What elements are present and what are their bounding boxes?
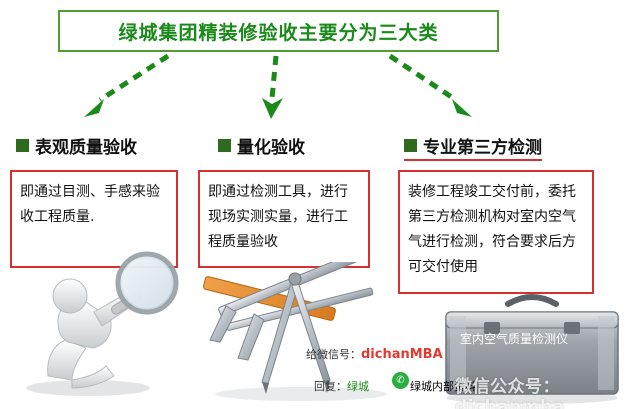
column-body-3: 装修工程竣工交付前，委托第三方检测机构对室内空气气进行检测，符合要求后方可交付使… — [398, 170, 594, 294]
arrow-line-left — [100, 56, 168, 100]
column-heading-label-2: 量化验收 — [237, 133, 305, 158]
title-box: 绿城集团精装修验收主要分为三大类 — [58, 10, 499, 52]
column-heading-1: 表观质量验收 — [16, 132, 137, 158]
bullet-square-icon — [404, 139, 417, 152]
arrow-head-right — [452, 99, 472, 117]
promo-line-2: 回复：绿城 — [314, 378, 369, 394]
arrow-line-right — [390, 56, 456, 100]
page-title: 绿城集团精装修验收主要分为三大类 — [118, 18, 438, 45]
column-heading-label-1: 表观质量验收 — [35, 133, 137, 158]
arrow-line-middle — [272, 56, 276, 98]
caliper-measuring-tools — [196, 262, 406, 404]
bullet-square-icon — [218, 139, 231, 152]
promo-line2-keyword: 绿城 — [347, 380, 369, 393]
case-label: 室内空气质量检测仪 — [460, 330, 568, 347]
promo-line2-prefix: 回复： — [314, 380, 347, 393]
promo-line-1: 给微信号：dichanMBA — [306, 346, 443, 362]
magnifier-man-figure — [14, 248, 194, 398]
wechat-icon: ✆ — [392, 372, 409, 389]
promo-line1-prefix: 给微信号： — [306, 348, 361, 361]
bullet-square-icon — [16, 139, 29, 152]
column-body-2: 即通过检测工具，进行现场实测实量，进行工程质量验收 — [198, 170, 370, 268]
diagram-canvas: 绿城集团精装修验收主要分为三大类 表观质量验收 即通过目测、手感来验收工程质量.… — [0, 0, 640, 409]
column-heading-label-3: 专业第三方检测 — [423, 133, 542, 158]
promo-brand: dichanMBA — [361, 347, 443, 362]
column-heading-2: 量化验收 — [218, 132, 305, 158]
arrow-head-middle — [262, 98, 283, 119]
arrow-head-left — [84, 99, 104, 117]
watermark-text: 微信公众号：dichanmba — [455, 372, 640, 409]
column-heading-3: 专业第三方检测 — [404, 132, 542, 161]
